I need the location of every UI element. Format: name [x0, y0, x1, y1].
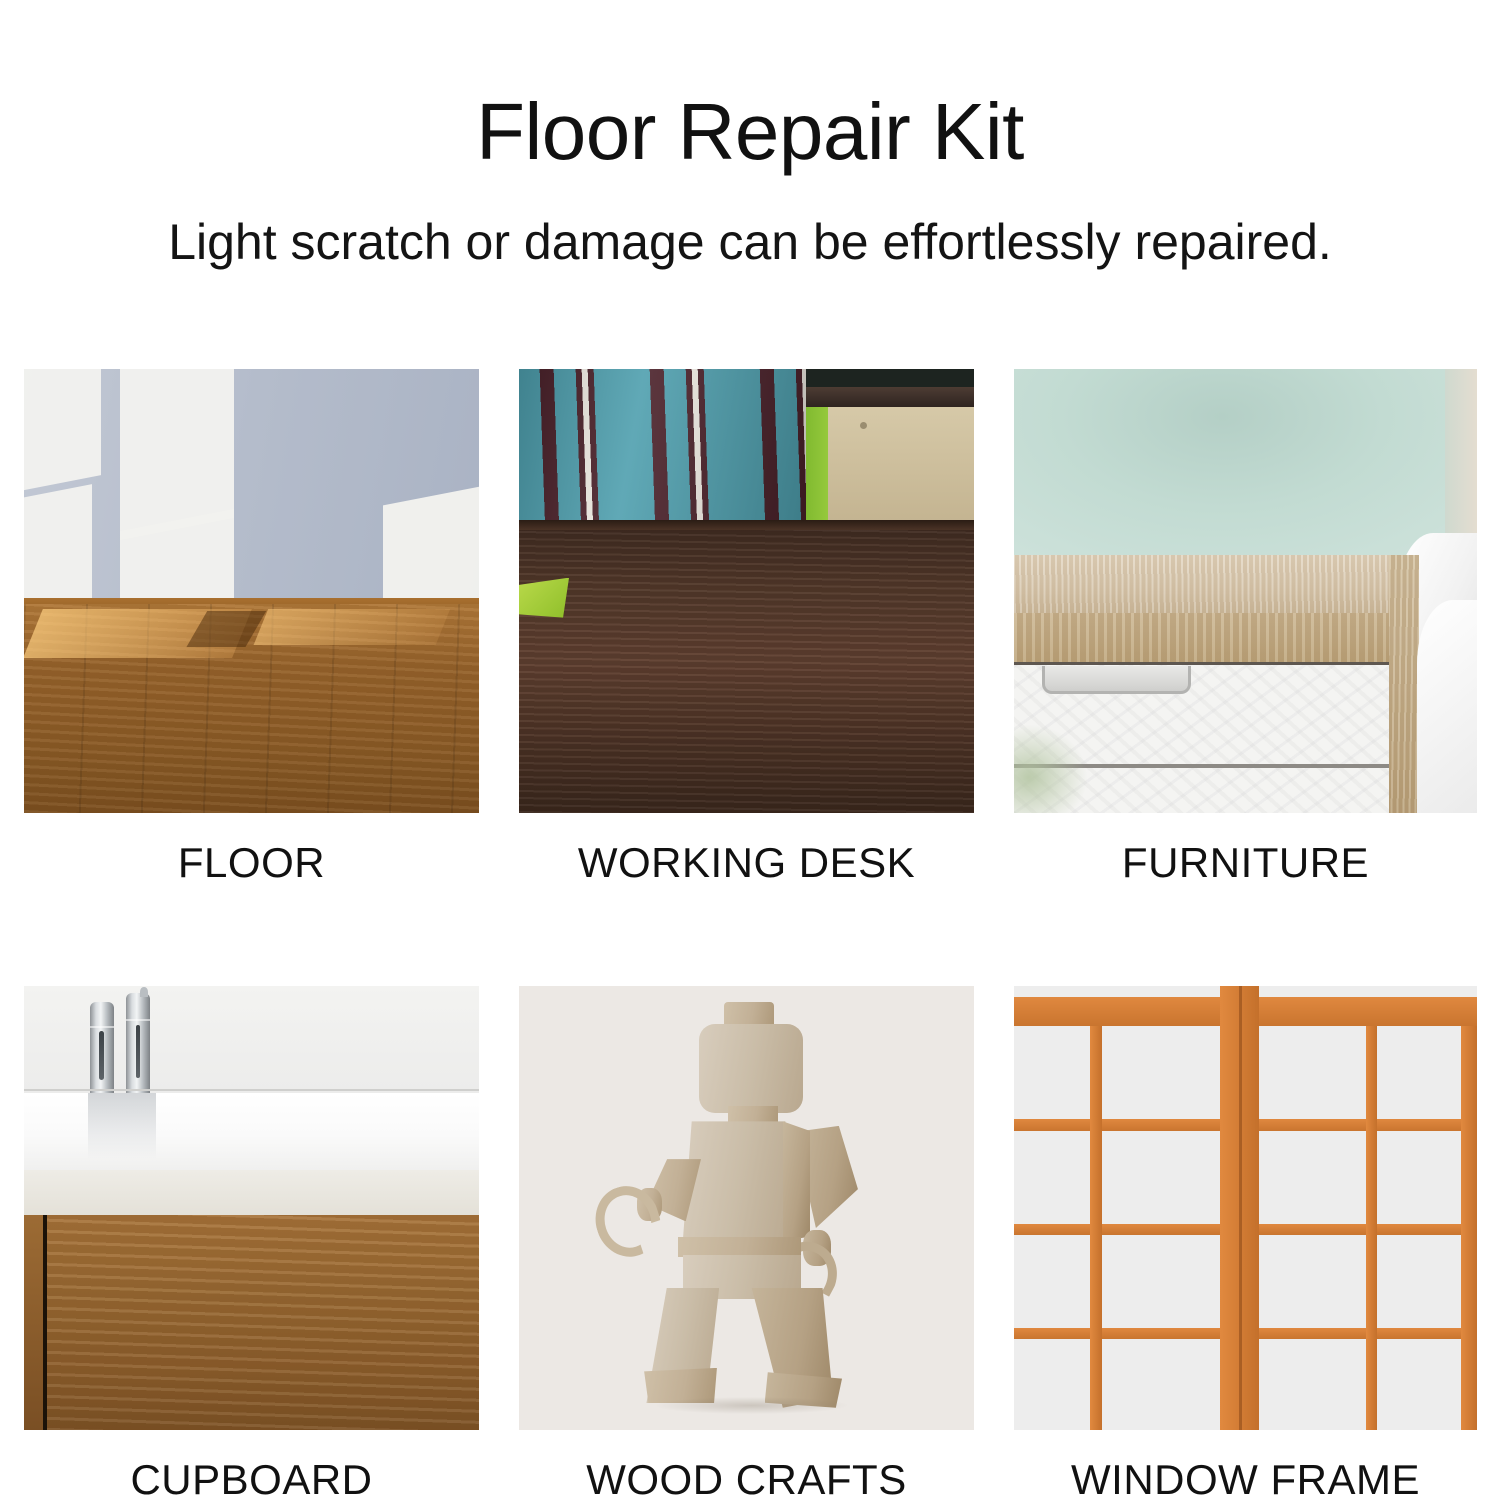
- drawer-handle[interactable]: [1042, 666, 1192, 693]
- thumbnail-cupboard[interactable]: [24, 986, 479, 1430]
- gallery-grid: FLOOR WORKING DESK: [24, 369, 1477, 1501]
- header: Floor Repair Kit Light scratch or damage…: [0, 0, 1500, 267]
- wall-side-panel: [1445, 369, 1477, 560]
- figure-torso: [683, 1121, 794, 1241]
- gallery-item-window-frame[interactable]: WINDOW FRAME: [1014, 986, 1477, 1501]
- thumbnail-furniture[interactable]: [1014, 369, 1477, 813]
- grinder-slot: [136, 1025, 141, 1078]
- thumbnail-window-frame[interactable]: [1014, 986, 1477, 1430]
- grinder-knob: [140, 987, 147, 997]
- thumbnail-working-desk[interactable]: [519, 369, 974, 813]
- countertop-edge: [24, 1170, 479, 1214]
- pillow: [1417, 600, 1477, 813]
- figure-torso-side: [783, 1121, 810, 1241]
- window-mullion-vertical: [1090, 1022, 1101, 1430]
- figure-shadow: [656, 1397, 847, 1415]
- gallery-item-label: WINDOW FRAME: [1014, 1430, 1477, 1501]
- plywood-board: [828, 407, 974, 522]
- gallery-item-working-desk[interactable]: WORKING DESK: [519, 369, 974, 884]
- floor-sunlight: [253, 609, 449, 645]
- nightstand-front-rail: [1014, 613, 1417, 662]
- gallery-item-floor[interactable]: FLOOR: [24, 369, 479, 884]
- nightstand-side-panel: [1389, 555, 1419, 813]
- page-subtitle: Light scratch or damage can be effortles…: [0, 172, 1500, 267]
- gallery-item-label: FURNITURE: [1014, 813, 1477, 884]
- cabinet-door: [24, 1215, 479, 1430]
- grinder-band: [90, 1026, 114, 1028]
- grinder-band: [126, 1019, 150, 1021]
- walnut-desk-surface: [519, 520, 974, 813]
- gallery-item-wood-crafts[interactable]: WOOD CRAFTS: [519, 986, 974, 1501]
- grinder-slot: [99, 1031, 104, 1079]
- gallery-item-furniture[interactable]: FURNITURE: [1014, 369, 1477, 884]
- gallery-item-cupboard[interactable]: CUPBOARD: [24, 986, 479, 1501]
- foreground-blur: [1014, 724, 1088, 813]
- gallery-item-label: WOOD CRAFTS: [519, 1430, 974, 1501]
- wooden-figure: [519, 986, 974, 1430]
- pepper-grinder: [126, 993, 150, 1095]
- figure-head: [699, 1024, 804, 1113]
- window-mullion-vertical: [1461, 1022, 1477, 1430]
- desk-edge: [519, 520, 974, 530]
- thumbnail-wood-crafts[interactable]: [519, 986, 974, 1430]
- gallery-item-label: FLOOR: [24, 813, 479, 884]
- window-mullion-vertical: [1366, 1022, 1377, 1430]
- page-title: Floor Repair Kit: [0, 0, 1500, 172]
- wood-rail: [783, 387, 974, 407]
- gallery-item-label: WORKING DESK: [519, 813, 974, 884]
- curtain-shading: [519, 369, 806, 524]
- cabinet-door-left: [24, 1215, 43, 1430]
- countertop-reflection: [88, 1093, 156, 1160]
- bedroom-wall: [1014, 369, 1477, 560]
- cabinet-seam: [43, 1215, 47, 1430]
- wall-seam: [24, 1089, 479, 1091]
- sunlight-patch: [24, 369, 101, 493]
- thumbnail-floor[interactable]: [24, 369, 479, 813]
- salt-grinder: [90, 1002, 114, 1095]
- window-post-seam: [1239, 986, 1242, 1430]
- nightstand-top: [1014, 555, 1417, 617]
- gallery-item-label: CUPBOARD: [24, 1430, 479, 1501]
